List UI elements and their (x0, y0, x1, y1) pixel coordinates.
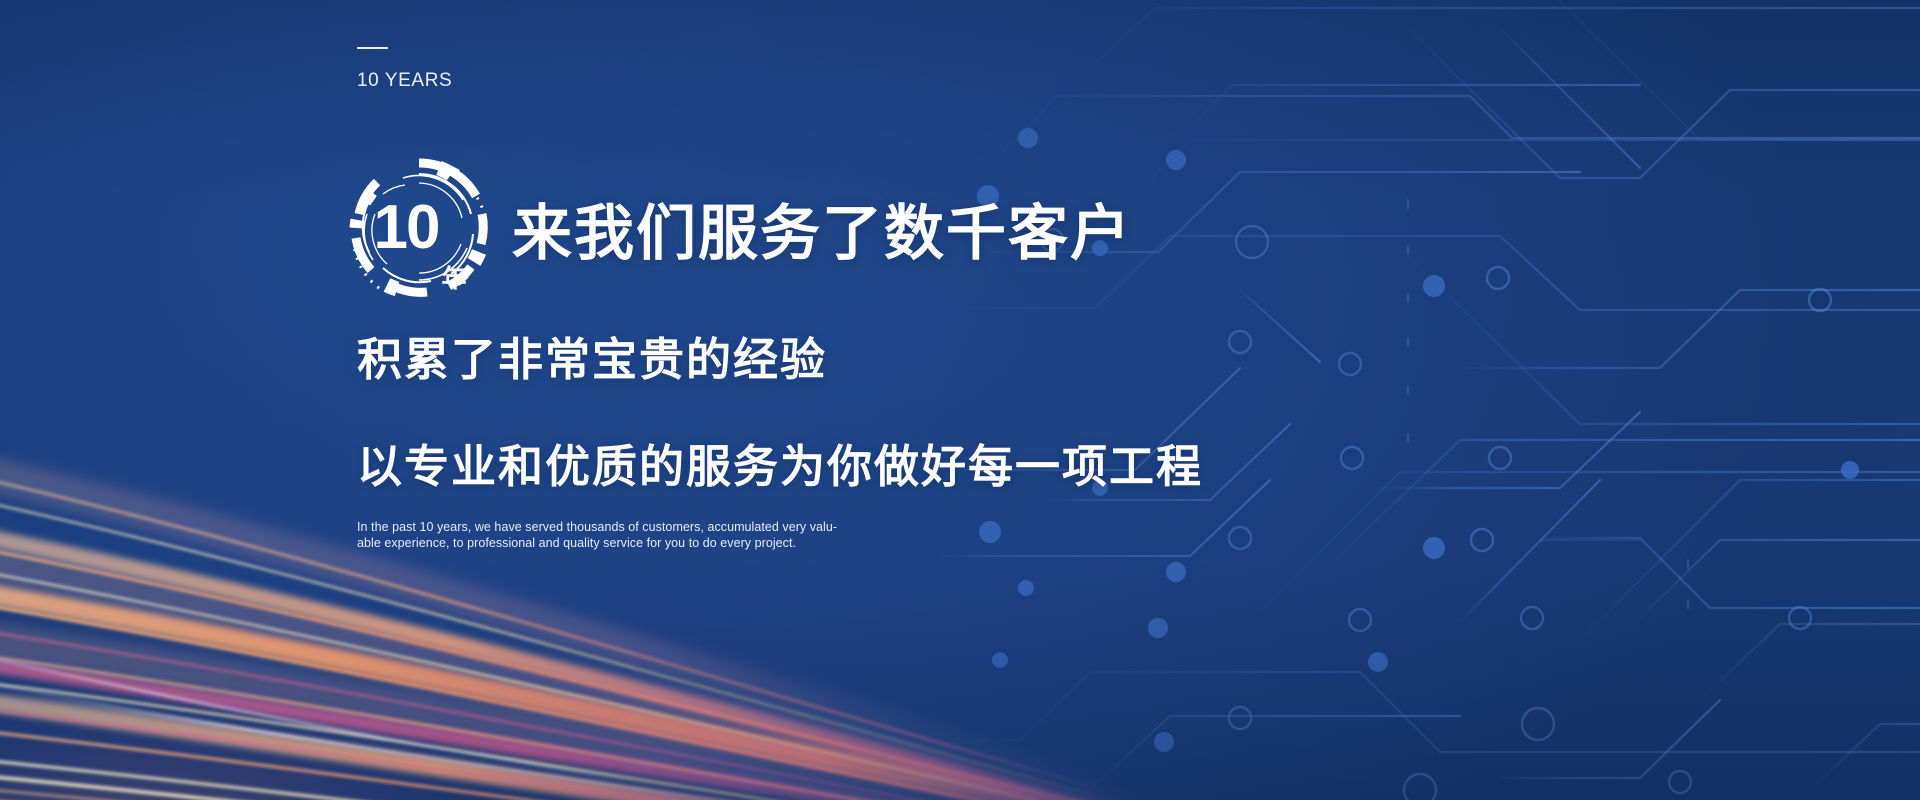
badge-unit: 年 (441, 267, 466, 292)
description-line-2: able experience, to professional and qua… (357, 536, 787, 552)
badge-label: 10 年 (343, 152, 495, 304)
eyebrow-label: 10 YEARS (357, 70, 452, 92)
description-line-1: In the past 10 years, we have served tho… (357, 520, 787, 536)
banner-content: 10 YEARS (357, 0, 1557, 800)
badge-number: 10 (374, 197, 439, 259)
promo-banner: 10 YEARS (0, 0, 1920, 800)
eyebrow-rule (357, 47, 388, 49)
headline: 来我们服务了数千客户 (512, 185, 1132, 272)
subheadline-2: 以专业和优质的服务为你做好每一项工程 (357, 430, 1203, 495)
anniversary-badge: 10 年 (343, 152, 495, 304)
description-paragraph: In the past 10 years, we have served tho… (357, 520, 787, 551)
headline-row: 10 年 来我们服务了数千客户 (343, 152, 1132, 304)
subheadline-1: 积累了非常宝贵的经验 (357, 323, 827, 388)
